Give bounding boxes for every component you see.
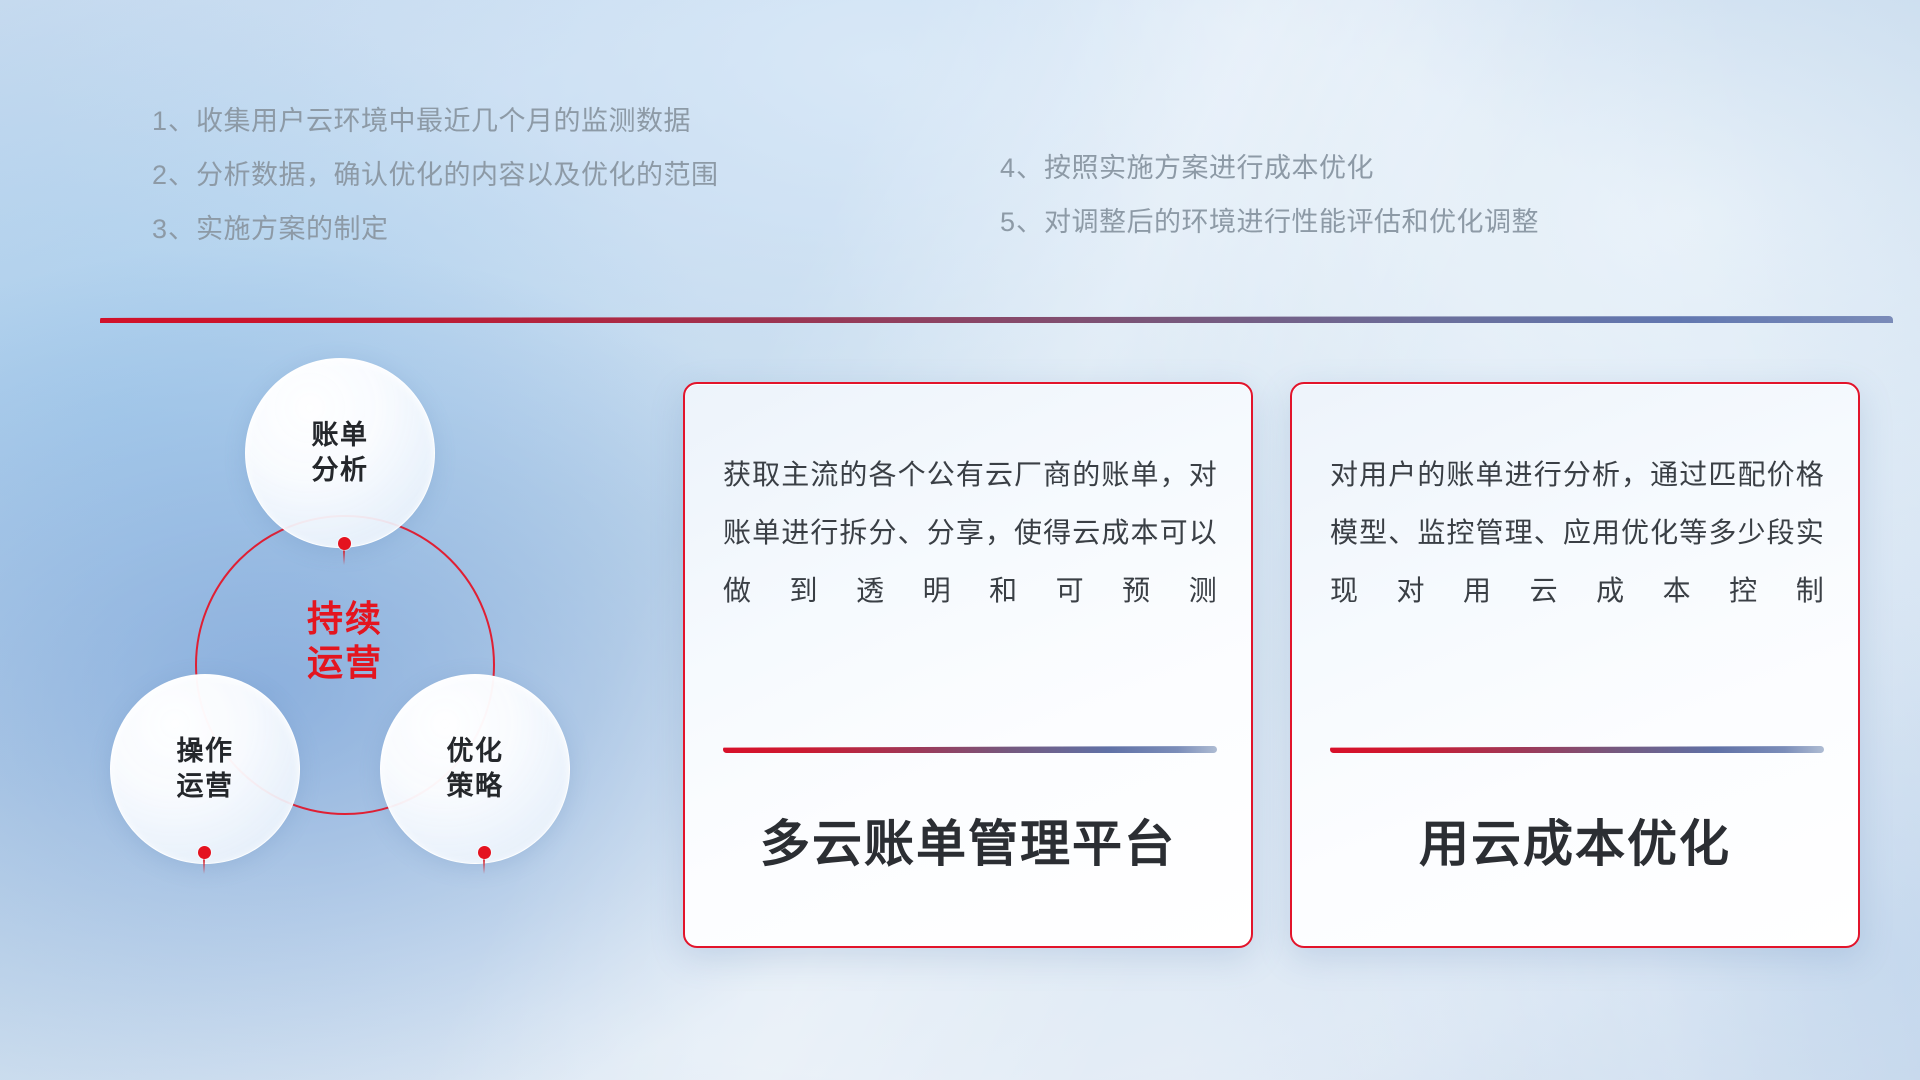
venn-center-label: 持续 运营 <box>195 597 495 685</box>
venn-bubble-label-line2: 策略 <box>447 769 504 804</box>
venn-bubble-label: 优化 策略 <box>447 734 504 804</box>
venn-center-label-line1: 持续 <box>195 597 495 641</box>
venn-bubble-optimization-strategy[interactable]: 优化 策略 <box>380 674 570 864</box>
card-title: 用云成本优化 <box>1292 804 1858 876</box>
venn-bubble-label: 账单 分析 <box>312 418 369 488</box>
process-list-right: 4、按照实施方案进行成本优化 5、对调整后的环境进行性能评估和优化调整 <box>1000 155 1539 263</box>
list-item-label: 实施方案的制定 <box>196 214 389 244</box>
venn-bubble-label-line2: 分析 <box>312 453 369 488</box>
list-item: 4、按照实施方案进行成本优化 <box>1000 155 1539 182</box>
node-dot-top <box>338 537 351 550</box>
card-divider-rule <box>1330 746 1824 753</box>
venn-bubble-billing-analysis[interactable]: 账单 分析 <box>245 358 435 548</box>
card-body: 获取主流的各个公有云厂商的账单，对账单进行拆分、分享，使得云成本可以做到透明和可… <box>723 446 1217 620</box>
card-divider-rule <box>723 746 1217 753</box>
venn-diagram: 持续 运营 账单 分析 操作 运营 优化 策略 <box>100 352 620 952</box>
list-item: 3、实施方案的制定 <box>152 216 719 243</box>
node-stem <box>483 858 485 874</box>
list-item-number: 1、 <box>152 106 196 136</box>
list-item-label: 按照实施方案进行成本优化 <box>1044 153 1374 183</box>
venn-bubble-operations[interactable]: 操作 运营 <box>110 674 300 864</box>
node-dot-right <box>478 846 491 859</box>
info-card-cloud-cost-optimization[interactable]: 对用户的账单进行分析，通过匹配价格模型、监控管理、应用优化等多少段实现对用云成本… <box>1290 382 1860 948</box>
process-list-left: 1、收集用户云环境中最近几个月的监测数据 2、分析数据，确认优化的内容以及优化的… <box>152 108 719 270</box>
list-item-number: 5、 <box>1000 207 1044 237</box>
list-item-label: 分析数据，确认优化的内容以及优化的范围 <box>196 160 719 190</box>
node-stem <box>343 549 345 565</box>
venn-bubble-label: 操作 运营 <box>177 734 234 804</box>
card-description: 获取主流的各个公有云厂商的账单，对账单进行拆分、分享，使得云成本可以做到透明和可… <box>723 446 1217 620</box>
venn-bubble-label-line1: 账单 <box>312 418 369 453</box>
card-description: 对用户的账单进行分析，通过匹配价格模型、监控管理、应用优化等多少段实现对用云成本… <box>1330 446 1824 620</box>
list-item: 1、收集用户云环境中最近几个月的监测数据 <box>152 108 719 135</box>
card-title: 多云账单管理平台 <box>685 804 1251 876</box>
node-stem <box>203 858 205 874</box>
list-item: 5、对调整后的环境进行性能评估和优化调整 <box>1000 209 1539 236</box>
list-item-label: 收集用户云环境中最近几个月的监测数据 <box>196 106 691 136</box>
list-item-label: 对调整后的环境进行性能评估和优化调整 <box>1044 207 1539 237</box>
list-item-number: 2、 <box>152 160 196 190</box>
venn-bubble-label-line1: 操作 <box>177 734 234 769</box>
node-dot-left <box>198 846 211 859</box>
venn-bubble-label-line1: 优化 <box>447 734 504 769</box>
list-item-number: 3、 <box>152 214 196 244</box>
list-item-number: 4、 <box>1000 153 1044 183</box>
info-card-multicloud-billing[interactable]: 获取主流的各个公有云厂商的账单，对账单进行拆分、分享，使得云成本可以做到透明和可… <box>683 382 1253 948</box>
venn-bubble-label-line2: 运营 <box>177 769 234 804</box>
list-item: 2、分析数据，确认优化的内容以及优化的范围 <box>152 162 719 189</box>
card-body: 对用户的账单进行分析，通过匹配价格模型、监控管理、应用优化等多少段实现对用云成本… <box>1330 446 1824 620</box>
